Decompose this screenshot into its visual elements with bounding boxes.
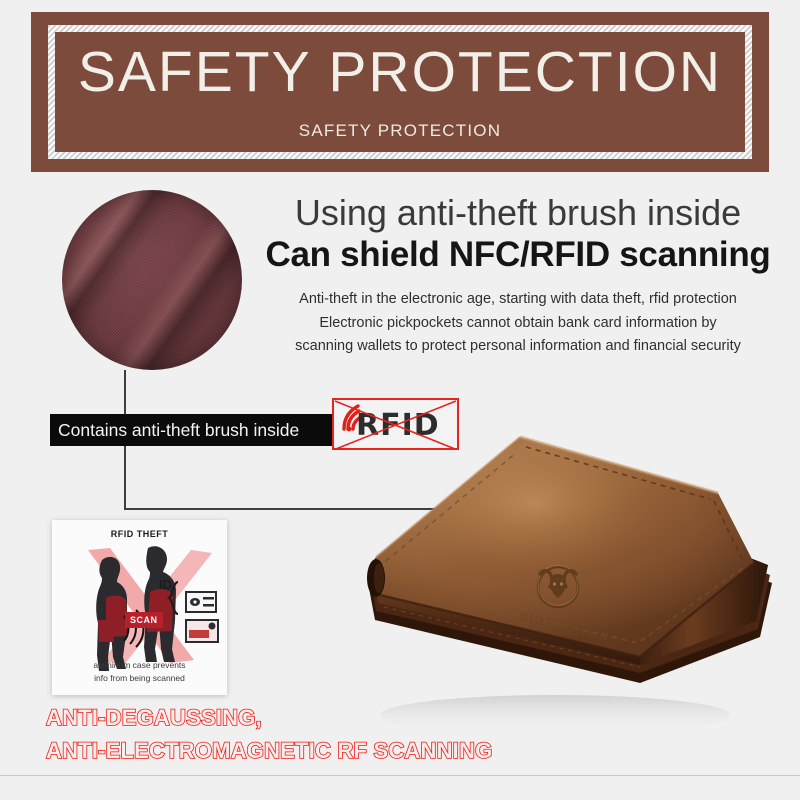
headline-line-2: Can shield NFC/RFID scanning xyxy=(260,235,776,275)
banner-subtitle: SAFETY PROTECTION xyxy=(299,121,501,141)
wallet-product-photo: BULLCAPTAIN xyxy=(340,415,800,745)
connector-line-vertical-top xyxy=(124,370,126,415)
wallet-illustration: BULLCAPTAIN xyxy=(340,415,800,745)
headline-line-1: Using anti-theft brush inside xyxy=(260,193,776,233)
connector-line-vertical-bottom xyxy=(124,446,126,510)
rfid-theft-illustration-card: RFID THEFT xyxy=(52,520,227,695)
theft-card-caption: aluminum case prevents info from being s… xyxy=(52,659,227,684)
banner-title: SAFETY PROTECTION xyxy=(78,44,722,101)
body-copy-line-3: scanning wallets to protect personal inf… xyxy=(260,335,776,358)
footer-line-1: ANTI-DEGAUSSING, xyxy=(46,705,262,731)
theft-caption-line-2: info from being scanned xyxy=(52,672,227,684)
header-banner: SAFETY PROTECTION SAFETY PROTECTION xyxy=(31,12,769,172)
anti-theft-label-band: Contains anti-theft brush inside xyxy=(50,414,334,446)
wallet-shadow xyxy=(380,695,730,735)
product-infographic-page: SAFETY PROTECTION SAFETY PROTECTION Usin… xyxy=(0,0,800,800)
footer-line-2: ANTI-ELECTROMAGNETIC RF SCANNING xyxy=(46,738,492,764)
scan-badge: SCAN xyxy=(125,612,163,628)
theft-caption-line-1: aluminum case prevents xyxy=(52,659,227,671)
fabric-closeup-circle xyxy=(62,190,242,370)
body-copy-line-2: Electronic pickpockets cannot obtain ban… xyxy=(260,312,776,335)
id-card-icons xyxy=(186,592,218,642)
bottom-divider xyxy=(0,775,800,776)
banner-inner: SAFETY PROTECTION SAFETY PROTECTION xyxy=(55,32,745,152)
headline-block: Using anti-theft brush inside Can shield… xyxy=(260,193,776,359)
headline-body-copy: Anti-theft in the electronic age, starti… xyxy=(260,288,776,358)
anti-theft-label-text: Contains anti-theft brush inside xyxy=(58,420,299,441)
body-copy-line-1: Anti-theft in the electronic age, starti… xyxy=(260,288,776,311)
id-label: ID xyxy=(159,577,172,592)
